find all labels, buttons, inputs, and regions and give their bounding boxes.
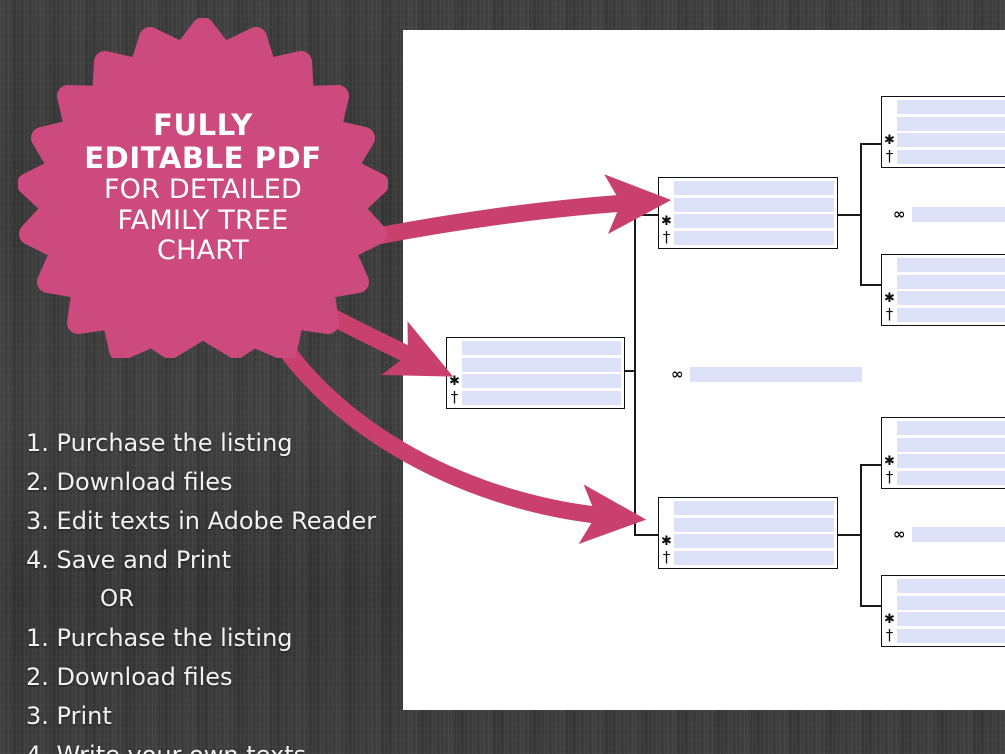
birth-icon: ✱ — [882, 613, 897, 626]
connector-parent2-bracket — [860, 464, 862, 606]
connector-to-gp-1 — [860, 143, 882, 145]
node-field-name[interactable] — [462, 341, 621, 355]
node-field-surname[interactable] — [462, 358, 621, 372]
tree-node-parent-1[interactable]: ✱ † — [658, 177, 838, 249]
node-row-birth[interactable]: ✱ — [882, 291, 1005, 305]
node-row-death[interactable]: † — [659, 551, 834, 565]
node-field-death[interactable] — [897, 150, 1005, 164]
connector-parent1-bracket — [860, 143, 862, 285]
node-field-death[interactable] — [897, 629, 1005, 643]
connector-to-gp-2 — [860, 284, 882, 286]
death-icon: † — [882, 308, 897, 321]
node-row-death[interactable]: † — [447, 391, 621, 405]
node-field-surname[interactable] — [897, 596, 1005, 610]
node-field-name[interactable] — [897, 579, 1005, 593]
node-row-death[interactable]: † — [882, 629, 1005, 643]
node-field-surname[interactable] — [674, 198, 834, 212]
node-row-birth[interactable]: ✱ — [659, 534, 834, 548]
node-row-birth[interactable]: ✱ — [447, 374, 621, 388]
node-row-birth[interactable]: ✱ — [882, 454, 1005, 468]
family-tree-chart: ✱ † ✱ † — [403, 30, 1005, 710]
instruction-a-4: 4. Save and Print — [26, 541, 396, 580]
death-icon: † — [659, 551, 674, 564]
death-icon: † — [882, 150, 897, 163]
node-field-surname[interactable] — [897, 275, 1005, 289]
node-row-death[interactable]: † — [882, 471, 1005, 485]
connector-parent1-stub — [838, 214, 862, 216]
marriage-field-root[interactable]: ∞ — [671, 367, 862, 382]
node-row-death[interactable]: † — [882, 308, 1005, 322]
node-field-name[interactable] — [897, 258, 1005, 272]
node-row-death[interactable]: † — [659, 231, 834, 245]
instruction-a-2: 2. Download files — [26, 463, 396, 502]
instruction-divider-or: OR — [100, 580, 396, 619]
birth-icon: ✱ — [882, 455, 897, 468]
starburst-shape — [18, 18, 388, 358]
node-field-death[interactable] — [897, 471, 1005, 485]
node-field-name[interactable] — [674, 501, 834, 515]
node-field-death[interactable] — [674, 551, 834, 565]
marriage-icon: ∞ — [893, 527, 906, 542]
connector-to-gp-3 — [860, 464, 882, 466]
marriage-input-root[interactable] — [690, 367, 862, 382]
birth-icon: ✱ — [882, 292, 897, 305]
fully-editable-pdf-badge: FULLY EDITABLE PDF FOR DETAILED FAMILY T… — [18, 18, 388, 358]
node-field-name[interactable] — [897, 421, 1005, 435]
instruction-a-3: 3. Edit texts in Adobe Reader — [26, 502, 396, 541]
death-icon: † — [882, 629, 897, 642]
marriage-input-parent-1[interactable] — [912, 207, 1005, 222]
marriage-field-parent-2[interactable]: ∞ — [893, 527, 1005, 542]
instruction-list: 1. Purchase the listing 2. Download file… — [26, 424, 396, 754]
connector-to-gp-4 — [860, 605, 882, 607]
birth-icon: ✱ — [447, 375, 462, 388]
marriage-field-parent-1[interactable]: ∞ — [893, 207, 1005, 222]
node-row-death[interactable]: † — [882, 150, 1005, 164]
connector-parent2-stub — [838, 534, 862, 536]
connector-to-parent-2 — [634, 534, 658, 536]
tree-node-parent-2[interactable]: ✱ † — [658, 497, 838, 569]
node-field-death[interactable] — [674, 231, 834, 245]
instruction-b-3: 3. Print — [26, 697, 396, 736]
node-field-death[interactable] — [462, 391, 621, 405]
family-tree-paper: ✱ † ✱ † — [403, 30, 1005, 710]
death-icon: † — [659, 231, 674, 244]
node-row-birth[interactable]: ✱ — [882, 612, 1005, 626]
node-field-birth[interactable] — [897, 612, 1005, 626]
tree-node-gp-1[interactable]: ✱ † — [881, 96, 1005, 168]
birth-icon: ✱ — [659, 535, 674, 548]
node-row-birth[interactable]: ✱ — [882, 133, 1005, 147]
screenshot-stage: ✱ † ✱ † — [0, 0, 1005, 754]
node-row-birth[interactable]: ✱ — [659, 214, 834, 228]
birth-icon: ✱ — [882, 134, 897, 147]
marriage-icon: ∞ — [671, 367, 684, 382]
tree-node-gp-2[interactable]: ✱ † — [881, 254, 1005, 326]
tree-node-gp-4[interactable]: ✱ † — [881, 575, 1005, 647]
tree-node-gp-3[interactable]: ✱ † — [881, 417, 1005, 489]
node-field-surname[interactable] — [674, 518, 834, 532]
instruction-b-2: 2. Download files — [26, 658, 396, 697]
instruction-b-4: 4. Write your own texts — [26, 736, 396, 754]
node-field-surname[interactable] — [897, 117, 1005, 131]
death-icon: † — [882, 471, 897, 484]
birth-icon: ✱ — [659, 215, 674, 228]
node-field-birth[interactable] — [674, 534, 834, 548]
instruction-b-1: 1. Purchase the listing — [26, 619, 396, 658]
connector-trunk-vertical — [634, 215, 636, 535]
node-field-death[interactable] — [897, 308, 1005, 322]
node-field-birth[interactable] — [897, 291, 1005, 305]
connector-to-parent-1 — [634, 214, 658, 216]
node-field-birth[interactable] — [897, 133, 1005, 147]
instruction-a-1: 1. Purchase the listing — [26, 424, 396, 463]
node-field-name[interactable] — [897, 100, 1005, 114]
node-field-birth[interactable] — [462, 374, 621, 388]
marriage-icon: ∞ — [893, 207, 906, 222]
node-field-birth[interactable] — [897, 454, 1005, 468]
death-icon: † — [447, 391, 462, 404]
node-field-birth[interactable] — [674, 214, 834, 228]
node-field-surname[interactable] — [897, 438, 1005, 452]
node-field-name[interactable] — [674, 181, 834, 195]
tree-node-root[interactable]: ✱ † — [446, 337, 625, 409]
marriage-input-parent-2[interactable] — [912, 527, 1005, 542]
